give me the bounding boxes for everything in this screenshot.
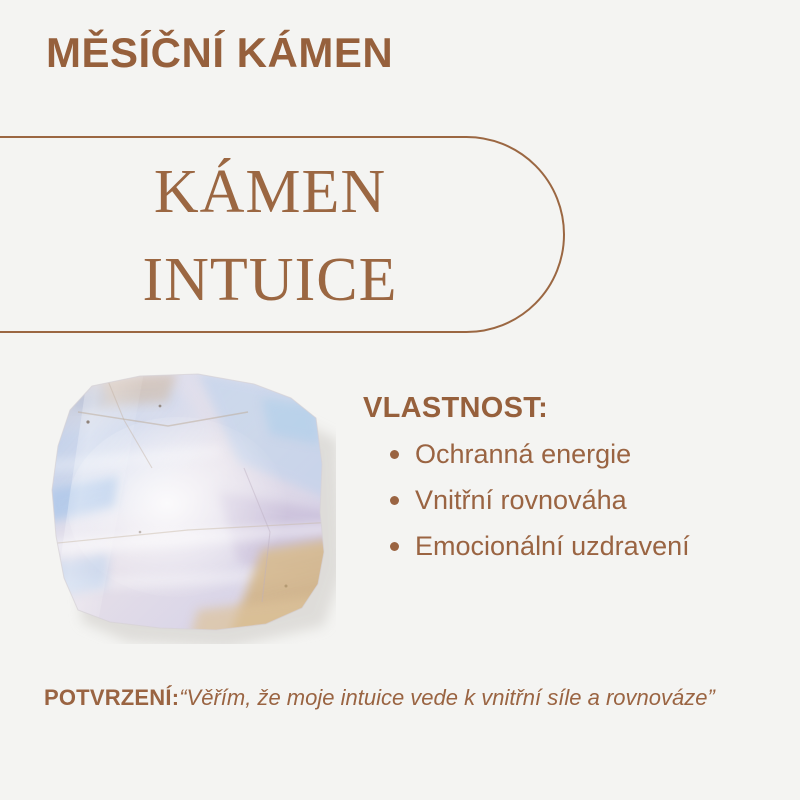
moonstone-image (48, 372, 336, 644)
bullet-icon (390, 496, 399, 505)
list-item-label: Vnitřní rovnováha (415, 485, 627, 515)
properties-heading: VLASTNOST: (363, 392, 793, 425)
moonstone-svg (48, 372, 336, 644)
list-item-label: Emocionální uzdravení (415, 531, 690, 561)
affirmation-quote: “Věřím, že moje intuice vede k vnitřní s… (179, 685, 715, 710)
list-item: Ochranná energie (363, 431, 793, 477)
affirmation-block: POTVRZENÍ:“Věřím, že moje intuice vede k… (44, 681, 764, 714)
page-title: MĚSÍČNÍ KÁMEN (46, 30, 393, 76)
affirmation-label: POTVRZENÍ: (44, 685, 179, 710)
poster-canvas: MĚSÍČNÍ KÁMEN KÁMEN INTUICE (0, 0, 800, 800)
headline: KÁMEN INTUICE (0, 148, 540, 324)
properties-list: Ochranná energie Vnitřní rovnováha Emoci… (363, 431, 793, 569)
headline-line-2: INTUICE (0, 236, 540, 324)
bullet-icon (390, 542, 399, 551)
bullet-icon (390, 450, 399, 459)
list-item: Vnitřní rovnováha (363, 477, 793, 523)
list-item-label: Ochranná energie (415, 439, 631, 469)
stone-body (48, 372, 336, 644)
list-item: Emocionální uzdravení (363, 523, 793, 569)
properties-block: VLASTNOST: Ochranná energie Vnitřní rovn… (363, 392, 793, 569)
headline-line-1: KÁMEN (0, 148, 540, 236)
